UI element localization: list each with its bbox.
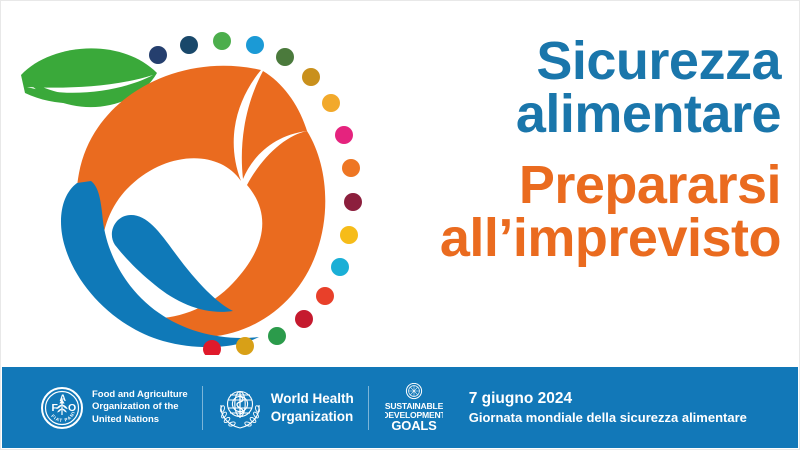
svg-text:F: F [52,402,59,414]
who-name: World Health Organization [271,390,354,424]
event-date: 7 giugno 2024 [469,389,747,408]
who-name-line-2: Organization [271,408,354,425]
who-name-line-1: World Health [271,390,354,407]
poster: Sicurezza alimentare Prepararsi all’impr… [0,0,800,450]
fao-name-line-3: United Nations [92,414,188,426]
headline-line-1: Sicurezza [381,35,781,88]
who-logo: World Health Organization [217,385,354,431]
logo-divider-2 [368,386,369,430]
page-title: Sicurezza alimentare [381,35,781,141]
bottom-bar: F A O FIAT PANIS Food and Agriculture Or… [2,367,798,448]
sdg-line-3: GOALS [391,418,437,433]
who-emblem-icon [217,385,263,431]
headline-block: Sicurezza alimentare Prepararsi all’impr… [381,35,781,265]
subheadline-line-2: all’imprevisto [381,212,781,265]
fao-logo: F A O FIAT PANIS Food and Agriculture Or… [40,386,188,430]
page-subtitle: Prepararsi all’imprevisto [381,159,781,265]
fao-name-line-2: Organization of the [92,401,188,413]
event-name: Giornata mondiale della sicurezza alimen… [469,410,747,426]
sdg-logo: SUSTAINABLE DEVELOPMENT GOALS [383,383,445,433]
un-emblem-icon: SUSTAINABLE DEVELOPMENT GOALS [385,383,443,433]
world-food-safety-day-logo [11,15,381,355]
date-block: 7 giugno 2024 Giornata mondiale della si… [469,389,747,427]
fao-name: Food and Agriculture Organization of the… [92,389,188,425]
subheadline-line-1: Prepararsi [381,159,781,212]
headline-line-2: alimentare [381,88,781,141]
fao-name-line-1: Food and Agriculture [92,389,188,401]
svg-text:A: A [60,393,67,403]
fao-emblem-icon: F A O FIAT PANIS [40,386,84,430]
logo-divider-1 [202,386,203,430]
